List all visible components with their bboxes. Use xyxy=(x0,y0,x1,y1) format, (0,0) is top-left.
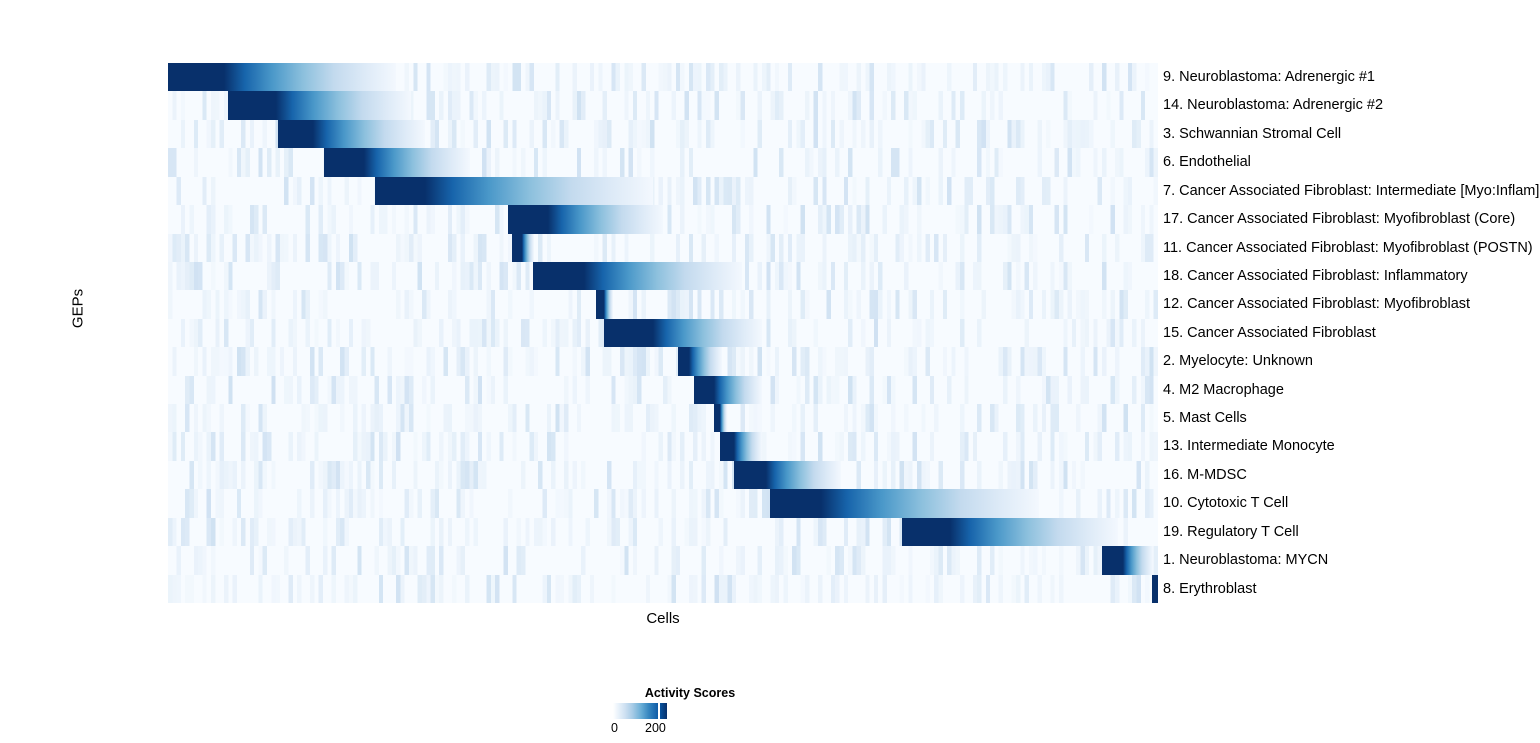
heatmap-peak-block xyxy=(694,376,715,404)
heatmap-gradient-tail xyxy=(714,376,762,404)
heatmap-gradient-tail xyxy=(1123,546,1153,574)
row-label: 18. Cancer Associated Fibroblast: Inflam… xyxy=(1163,262,1468,290)
row-label: 13. Intermediate Monocyte xyxy=(1163,432,1335,460)
heatmap-row-background xyxy=(168,347,1158,375)
heatmap-gradient-tail xyxy=(584,262,742,290)
row-label: 9. Neuroblastoma: Adrenergic #1 xyxy=(1163,63,1375,91)
heatmap-row-background xyxy=(168,148,1158,176)
row-label: 12. Cancer Associated Fibroblast: Myofib… xyxy=(1163,290,1470,318)
colorbar-tickmark xyxy=(658,703,660,719)
heatmap-gradient-tail xyxy=(720,404,727,432)
heatmap-row xyxy=(168,575,1158,603)
heatmap-row xyxy=(168,404,1158,432)
heatmap-peak-block xyxy=(278,120,313,148)
heatmap-peak-block xyxy=(678,347,689,375)
row-label: 19. Regulatory T Cell xyxy=(1163,518,1299,546)
heatmap-row-background xyxy=(168,234,1158,262)
heatmap-row xyxy=(168,518,1158,546)
heatmap-row-background xyxy=(168,177,1158,205)
heatmap-peak-block xyxy=(902,518,951,546)
heatmap-gradient-tail xyxy=(766,461,841,489)
row-label: 7. Cancer Associated Fibroblast: Interme… xyxy=(1163,177,1539,205)
row-label: 11. Cancer Associated Fibroblast: Myofib… xyxy=(1163,234,1533,262)
heatmap-gradient-tail xyxy=(734,432,762,460)
heatmap-row-background xyxy=(168,546,1158,574)
heatmap-gradient-tail xyxy=(950,518,1118,546)
heatmap-plot-area[interactable] xyxy=(168,63,1158,603)
y-axis-title: GEPs xyxy=(70,219,87,399)
heatmap-row xyxy=(168,489,1158,517)
heatmap-gradient-tail xyxy=(313,120,426,148)
heatmap-peak-block xyxy=(604,319,654,347)
heatmap-gradient-tail xyxy=(425,177,653,205)
heatmap-row-background xyxy=(168,376,1158,404)
row-label: 4. M2 Macrophage xyxy=(1163,376,1284,404)
heatmap-gradient-tail xyxy=(548,205,663,233)
heatmap-peak-block xyxy=(1102,546,1124,574)
heatmap-gradient-tail xyxy=(276,91,411,119)
heatmap-gradient-tail xyxy=(689,347,723,375)
row-label: 15. Cancer Associated Fibroblast xyxy=(1163,319,1376,347)
colorbar-title: Activity Scores xyxy=(560,686,820,700)
heatmap-peak-block xyxy=(533,262,583,290)
x-axis-title: Cells xyxy=(168,610,1158,627)
heatmap-row-background xyxy=(168,432,1158,460)
heatmap-row xyxy=(168,290,1158,318)
heatmap-row xyxy=(168,432,1158,460)
heatmap-gradient-tail xyxy=(224,63,395,91)
row-label: 5. Mast Cells xyxy=(1163,404,1247,432)
heatmap-peak-block xyxy=(770,489,821,517)
heatmap-gradient-tail xyxy=(604,290,614,318)
colorbar-tick-low: 0 xyxy=(611,721,618,735)
heatmap-row xyxy=(168,234,1158,262)
heatmap-gradient-tail xyxy=(653,319,762,347)
heatmap-peak-block xyxy=(508,205,549,233)
row-label: 17. Cancer Associated Fibroblast: Myofib… xyxy=(1163,205,1515,233)
heatmap-row xyxy=(168,461,1158,489)
heatmap-peak-block xyxy=(168,63,224,91)
heatmap-peak-block xyxy=(720,432,734,460)
heatmap-row xyxy=(168,347,1158,375)
row-label: 10. Cytotoxic T Cell xyxy=(1163,489,1288,517)
row-label: 14. Neuroblastoma: Adrenergic #2 xyxy=(1163,91,1383,119)
heatmap-peak-block xyxy=(596,290,604,318)
row-label: 8. Erythroblast xyxy=(1163,575,1257,603)
colorbar-legend: Activity Scores 0 200 xyxy=(560,686,820,743)
heatmap-gradient-tail xyxy=(522,234,534,262)
heatmap-row xyxy=(168,63,1158,91)
heatmap-row-background xyxy=(168,575,1158,603)
row-label-list: 9. Neuroblastoma: Adrenergic #114. Neuro… xyxy=(1163,63,1540,608)
colorbar-tick-high: 200 xyxy=(645,721,666,735)
heatmap-row-background xyxy=(168,290,1158,318)
heatmap-row-background xyxy=(168,461,1158,489)
heatmap-peak-block xyxy=(734,461,766,489)
heatmap-gradient-tail xyxy=(364,148,470,176)
heatmap-row xyxy=(168,262,1158,290)
heatmap-figure: GEPs Cells 9. Neuroblastoma: Adrenergic … xyxy=(0,0,1540,743)
heatmap-peak-block xyxy=(228,91,276,119)
heatmap-row-background xyxy=(168,404,1158,432)
heatmap-row xyxy=(168,376,1158,404)
heatmap-row xyxy=(168,546,1158,574)
heatmap-row xyxy=(168,148,1158,176)
row-label: 2. Myelocyte: Unknown xyxy=(1163,347,1313,375)
heatmap-peak-block xyxy=(512,234,523,262)
row-label: 6. Endothelial xyxy=(1163,148,1251,176)
row-label: 3. Schwannian Stromal Cell xyxy=(1163,120,1341,148)
heatmap-row xyxy=(168,205,1158,233)
row-label: 16. M-MDSC xyxy=(1163,461,1247,489)
heatmap-row xyxy=(168,120,1158,148)
heatmap-peak-block xyxy=(1152,575,1158,603)
heatmap-peak-block xyxy=(324,148,364,176)
heatmap-row xyxy=(168,177,1158,205)
heatmap-row xyxy=(168,319,1158,347)
heatmap-row-background xyxy=(168,205,1158,233)
heatmap-row xyxy=(168,91,1158,119)
row-label: 1. Neuroblastoma: MYCN xyxy=(1163,546,1328,574)
heatmap-gradient-tail xyxy=(821,489,1039,517)
heatmap-peak-block xyxy=(375,177,425,205)
